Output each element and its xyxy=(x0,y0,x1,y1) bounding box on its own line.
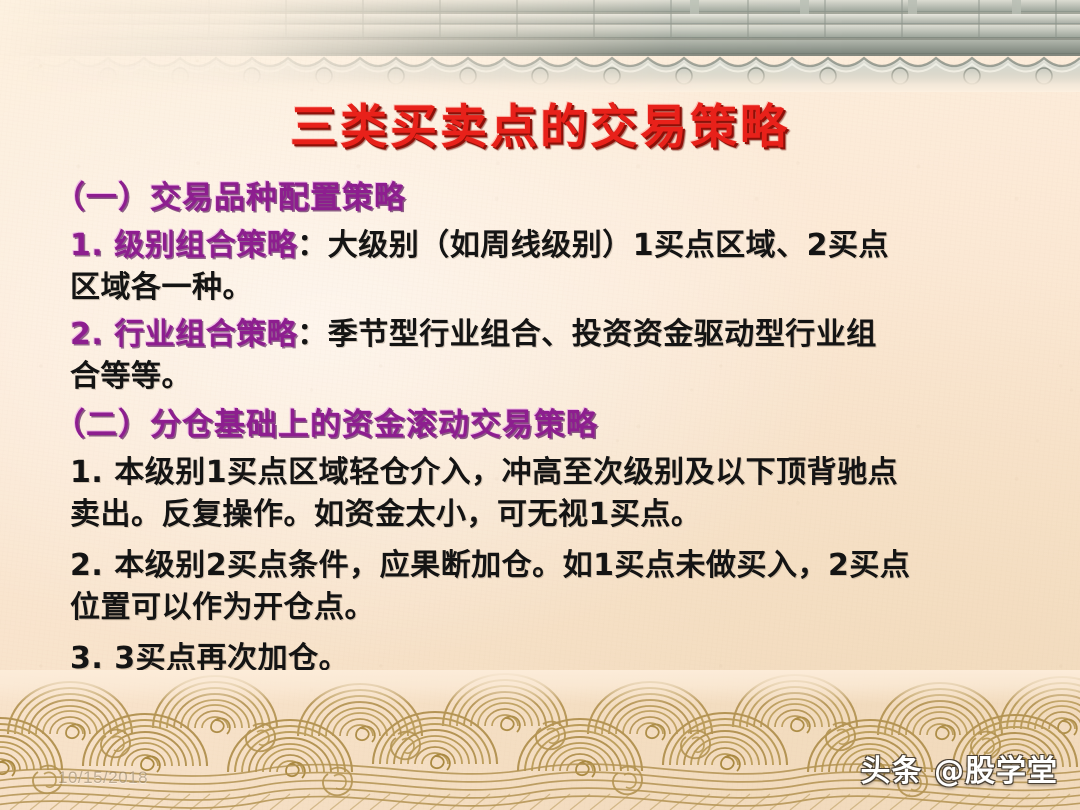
list-item: 2. 行业组合策略：季节型行业组合、投资资金驱动型行业组 xyxy=(54,314,1044,356)
list-item: 1. 本级别1买点区域轻仓介入，冲高至次级别及以下顶背驰点 xyxy=(54,452,1044,494)
slide-title: 三类买卖点的交易策略 xyxy=(0,88,1080,157)
list-item-lead: 1. 级别组合策略 xyxy=(70,228,297,263)
list-item-body: 2. 本级别2买点条件，应果断加仓。如1买点未做买入，2买点 xyxy=(70,548,910,583)
list-item-body: ：大级别（如周线级别）1买点区域、2买点 xyxy=(297,228,889,263)
date-stamp: 10/15/2018 xyxy=(58,768,148,788)
slide-body: （一）交易品种配置策略 1. 级别组合策略：大级别（如周线级别）1买点区域、2买… xyxy=(54,176,1044,680)
list-item-continuation: 区域各一种。 xyxy=(54,267,1044,309)
list-item-continuation: 卖出。反复操作。如资金太小，可无视1买点。 xyxy=(54,494,1044,536)
list-item-body: 1. 本级别1买点区域轻仓介入，冲高至次级别及以下顶背驰点 xyxy=(70,455,898,490)
list-item-body: ：季节型行业组合、投资资金驱动型行业组 xyxy=(297,317,877,352)
roof-tile-ornament-icon xyxy=(0,0,1080,92)
section-heading-1: （一）交易品种配置策略 xyxy=(54,176,1044,220)
watermark: 头条 @股学堂 xyxy=(861,746,1058,790)
section-heading-2: （二）分仓基础上的资金滚动交易策略 xyxy=(54,403,1044,447)
list-item-continuation: 位置可以作为开仓点。 xyxy=(54,587,1044,629)
slide-canvas: 三类买卖点的交易策略 （一）交易品种配置策略 1. 级别组合策略：大级别（如周线… xyxy=(0,0,1080,810)
list-item: 2. 本级别2买点条件，应果断加仓。如1买点未做买入，2买点 xyxy=(54,545,1044,587)
list-item: 1. 级别组合策略：大级别（如周线级别）1买点区域、2买点 xyxy=(54,225,1044,267)
list-item-lead: 2. 行业组合策略 xyxy=(70,317,297,352)
list-item-continuation: 合等等。 xyxy=(54,356,1044,398)
